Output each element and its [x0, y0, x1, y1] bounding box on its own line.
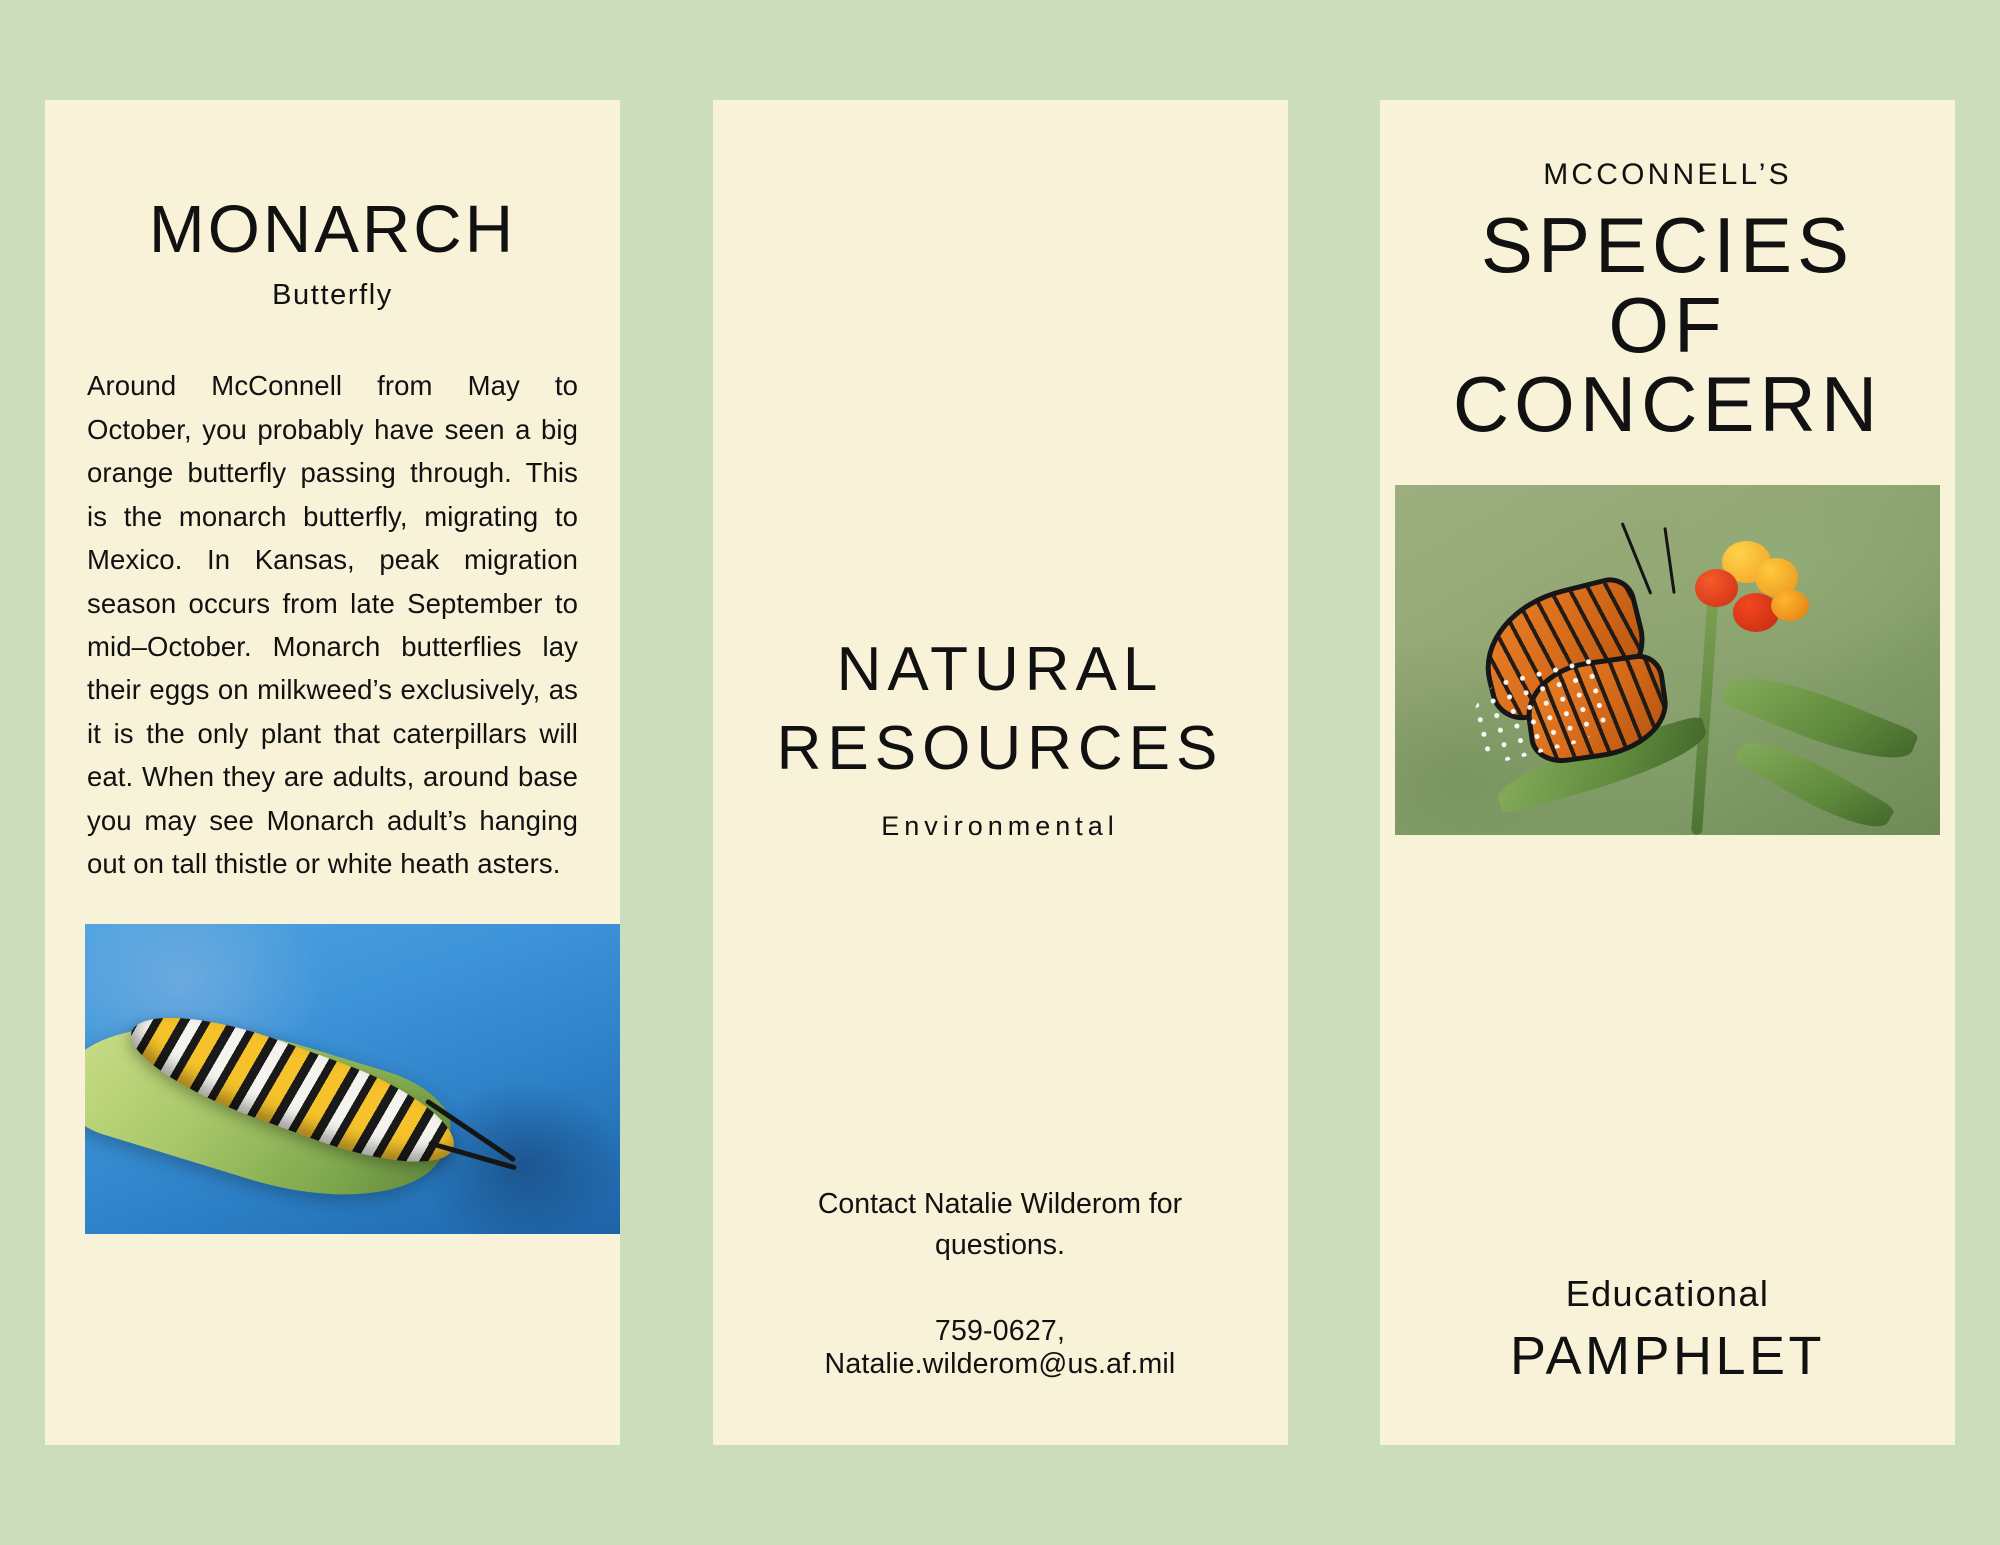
- pamphlet-footer: Educational PAMPHLET: [1418, 1273, 1917, 1387]
- footer-label-educational: Educational: [1418, 1273, 1917, 1315]
- butterfly-photo: [1395, 485, 1940, 835]
- brochure-page: MONARCH Butterfly Around McConnell from …: [0, 0, 2000, 1545]
- species-of-concern-title: SPECIES OF CONCERN: [1418, 206, 1917, 445]
- right-panel: MCCONNELL’S SPECIES OF CONCERN Education…: [1380, 100, 1955, 1445]
- center-panel: NATURAL RESOURCES Environmental Contact …: [713, 100, 1288, 1445]
- left-panel: MONARCH Butterfly Around McConnell from …: [45, 100, 620, 1445]
- monarch-body-text: Around McConnell from May to October, yo…: [85, 364, 580, 885]
- footer-title-pamphlet: PAMPHLET: [1418, 1325, 1917, 1387]
- heading-line-resources: RESOURCES: [759, 709, 1242, 788]
- contact-block: Contact Natalie Wilderom for questions. …: [759, 1184, 1242, 1381]
- contact-text: Contact Natalie Wilderom for questions.: [759, 1184, 1242, 1265]
- monarch-title: MONARCH: [85, 195, 580, 265]
- title-line-concern: CONCERN: [1418, 365, 1917, 445]
- butterfly-antenna-icon: [1663, 527, 1675, 593]
- eyebrow-mcconnells: MCCONNELL’S: [1543, 158, 1792, 192]
- natural-resources-heading: NATURAL RESOURCES Environmental: [759, 630, 1242, 842]
- title-line-of: OF: [1418, 286, 1917, 366]
- monarch-subtitle: Butterfly: [85, 279, 580, 312]
- heading-subtitle-environmental: Environmental: [759, 811, 1242, 842]
- title-line-species: SPECIES: [1418, 206, 1917, 286]
- heading-line-natural: NATURAL: [759, 630, 1242, 709]
- milkweed-flower-shape: [1695, 569, 1739, 608]
- milkweed-stem-shape: [1691, 576, 1720, 835]
- milkweed-flower-shape: [1771, 590, 1809, 622]
- caterpillar-photo: [85, 924, 620, 1234]
- contact-details: 759-0627, Natalie.wilderom@us.af.mil: [759, 1315, 1242, 1381]
